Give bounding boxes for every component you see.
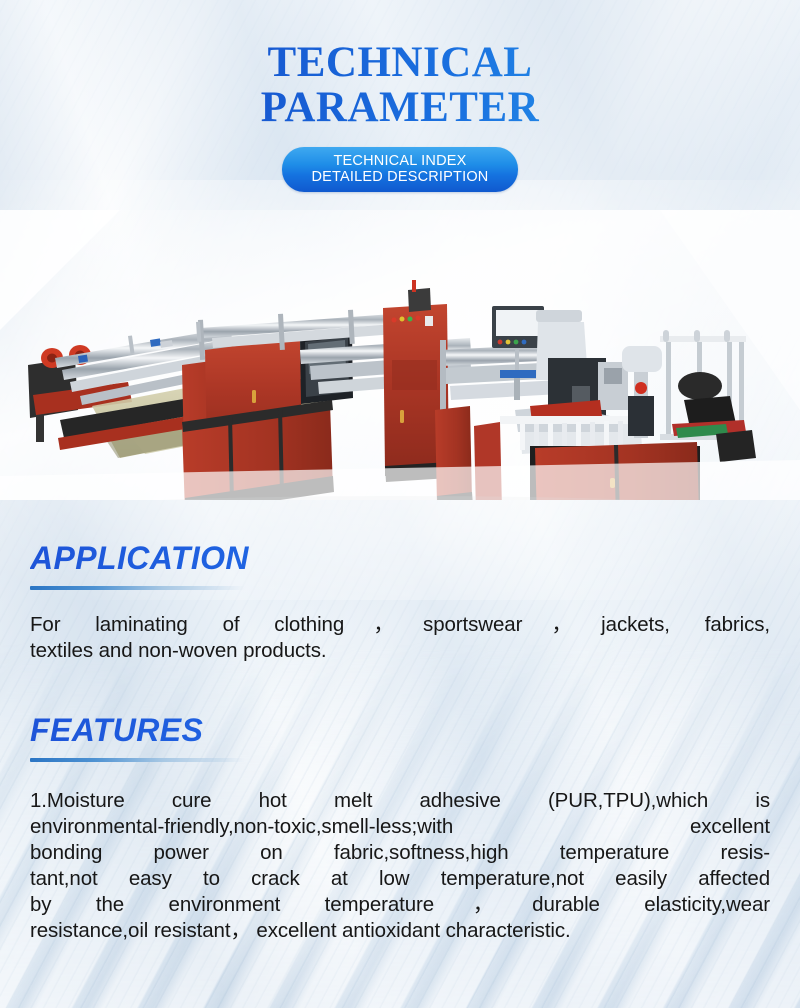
features-heading: FEATURES: [30, 712, 770, 748]
page-header: TECHNICAL PARAMETER: [0, 0, 800, 130]
badge-container: TECHNICAL INDEX DETAILED DESCRIPTION: [0, 147, 800, 192]
features-line-6: resistance,oil resistant， excellent anti…: [30, 918, 770, 944]
features-section: FEATURES 1.Moisture cure hot melt adhesi…: [0, 712, 800, 944]
application-section: APPLICATION For laminating of clothing，s…: [0, 540, 800, 664]
machine-illustration: [0, 210, 800, 500]
application-heading: APPLICATION: [30, 540, 770, 576]
badge-label-line-2: DETAILED DESCRIPTION: [312, 169, 489, 185]
features-line-5: by the environment temperature，durable e…: [30, 892, 770, 918]
features-line-2: environmental-friendly,non-toxic,smell-l…: [30, 814, 770, 840]
features-line-4: tant,not easy to crack at low temperatur…: [30, 866, 770, 892]
badge-label-line-1: TECHNICAL INDEX: [334, 153, 467, 169]
features-divider: [30, 758, 245, 762]
features-body: 1.Moisture cure hot melt adhesive (PUR,T…: [30, 788, 770, 944]
application-body: For laminating of clothing，sportswear，ja…: [30, 612, 770, 664]
machine-photo: [0, 210, 800, 500]
features-line-1: 1.Moisture cure hot melt adhesive (PUR,T…: [30, 788, 770, 814]
technical-index-badge[interactable]: TECHNICAL INDEX DETAILED DESCRIPTION: [282, 147, 519, 192]
page-title-line-2: PARAMETER: [0, 85, 800, 130]
technical-parameter-page: TECHNICAL PARAMETER TECHNICAL INDEX DETA…: [0, 0, 800, 1008]
application-divider: [30, 586, 245, 590]
page-title-line-1: TECHNICAL: [0, 40, 800, 85]
features-line-3: bonding power on fabric,softness,high te…: [30, 840, 770, 866]
application-line-1: For laminating of clothing，sportswear，ja…: [30, 612, 770, 638]
application-line-2: textiles and non-woven products.: [30, 638, 770, 664]
